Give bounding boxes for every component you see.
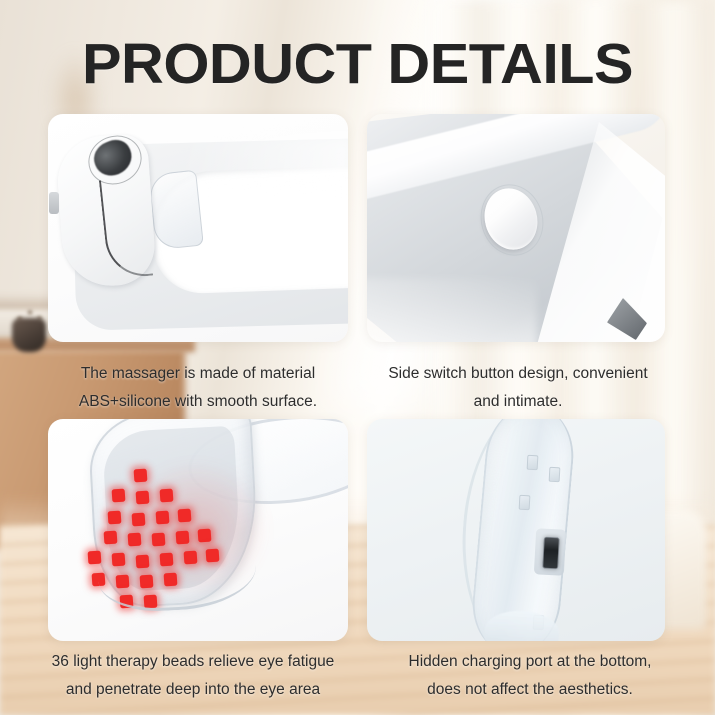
product-photo-side-switch xyxy=(367,114,665,342)
device-hinge xyxy=(49,192,59,214)
photo-highlight-sheen xyxy=(178,132,348,192)
caption-line: The massager is made of material xyxy=(28,360,368,388)
led-bead xyxy=(112,489,126,503)
caption-line: and intimate. xyxy=(348,388,688,416)
caption-line: Hidden charging port at the bottom, xyxy=(360,648,700,676)
caption-side-switch: Side switch button design, convenient an… xyxy=(348,360,688,416)
led-bead xyxy=(108,511,122,525)
product-photo-charging-port xyxy=(367,419,665,641)
decorative-vase xyxy=(12,318,46,352)
page-title: PRODUCT DETAILS xyxy=(0,36,715,93)
internal-led xyxy=(527,455,539,471)
device-bottom-shade xyxy=(367,278,537,342)
internal-led xyxy=(549,467,561,483)
led-bead xyxy=(136,491,150,505)
product-photo-light-therapy xyxy=(48,419,348,641)
caption-charging-port: Hidden charging port at the bottom, does… xyxy=(360,648,700,704)
caption-light-therapy: 36 light therapy beads relieve eye fatig… xyxy=(18,648,368,704)
lens-bottom-rim xyxy=(96,525,258,614)
caption-line: does not affect the aesthetics. xyxy=(360,676,700,704)
led-bead xyxy=(134,469,148,483)
caption-line: ABS+silicone with smooth surface. xyxy=(28,388,368,416)
caption-material: The massager is made of material ABS+sil… xyxy=(28,360,368,416)
caption-line: and penetrate deep into the eye area xyxy=(18,676,368,704)
product-details-infographic: PRODUCT DETAILS xyxy=(0,0,715,715)
caption-line: Side switch button design, convenient xyxy=(348,360,688,388)
internal-led xyxy=(519,495,531,511)
product-photo-material xyxy=(48,114,348,342)
caption-line: 36 light therapy beads relieve eye fatig… xyxy=(18,648,368,676)
led-bead xyxy=(156,511,170,525)
charging-port xyxy=(542,537,560,570)
led-bead xyxy=(160,489,174,503)
led-bead xyxy=(132,513,146,527)
led-bead xyxy=(178,509,192,523)
